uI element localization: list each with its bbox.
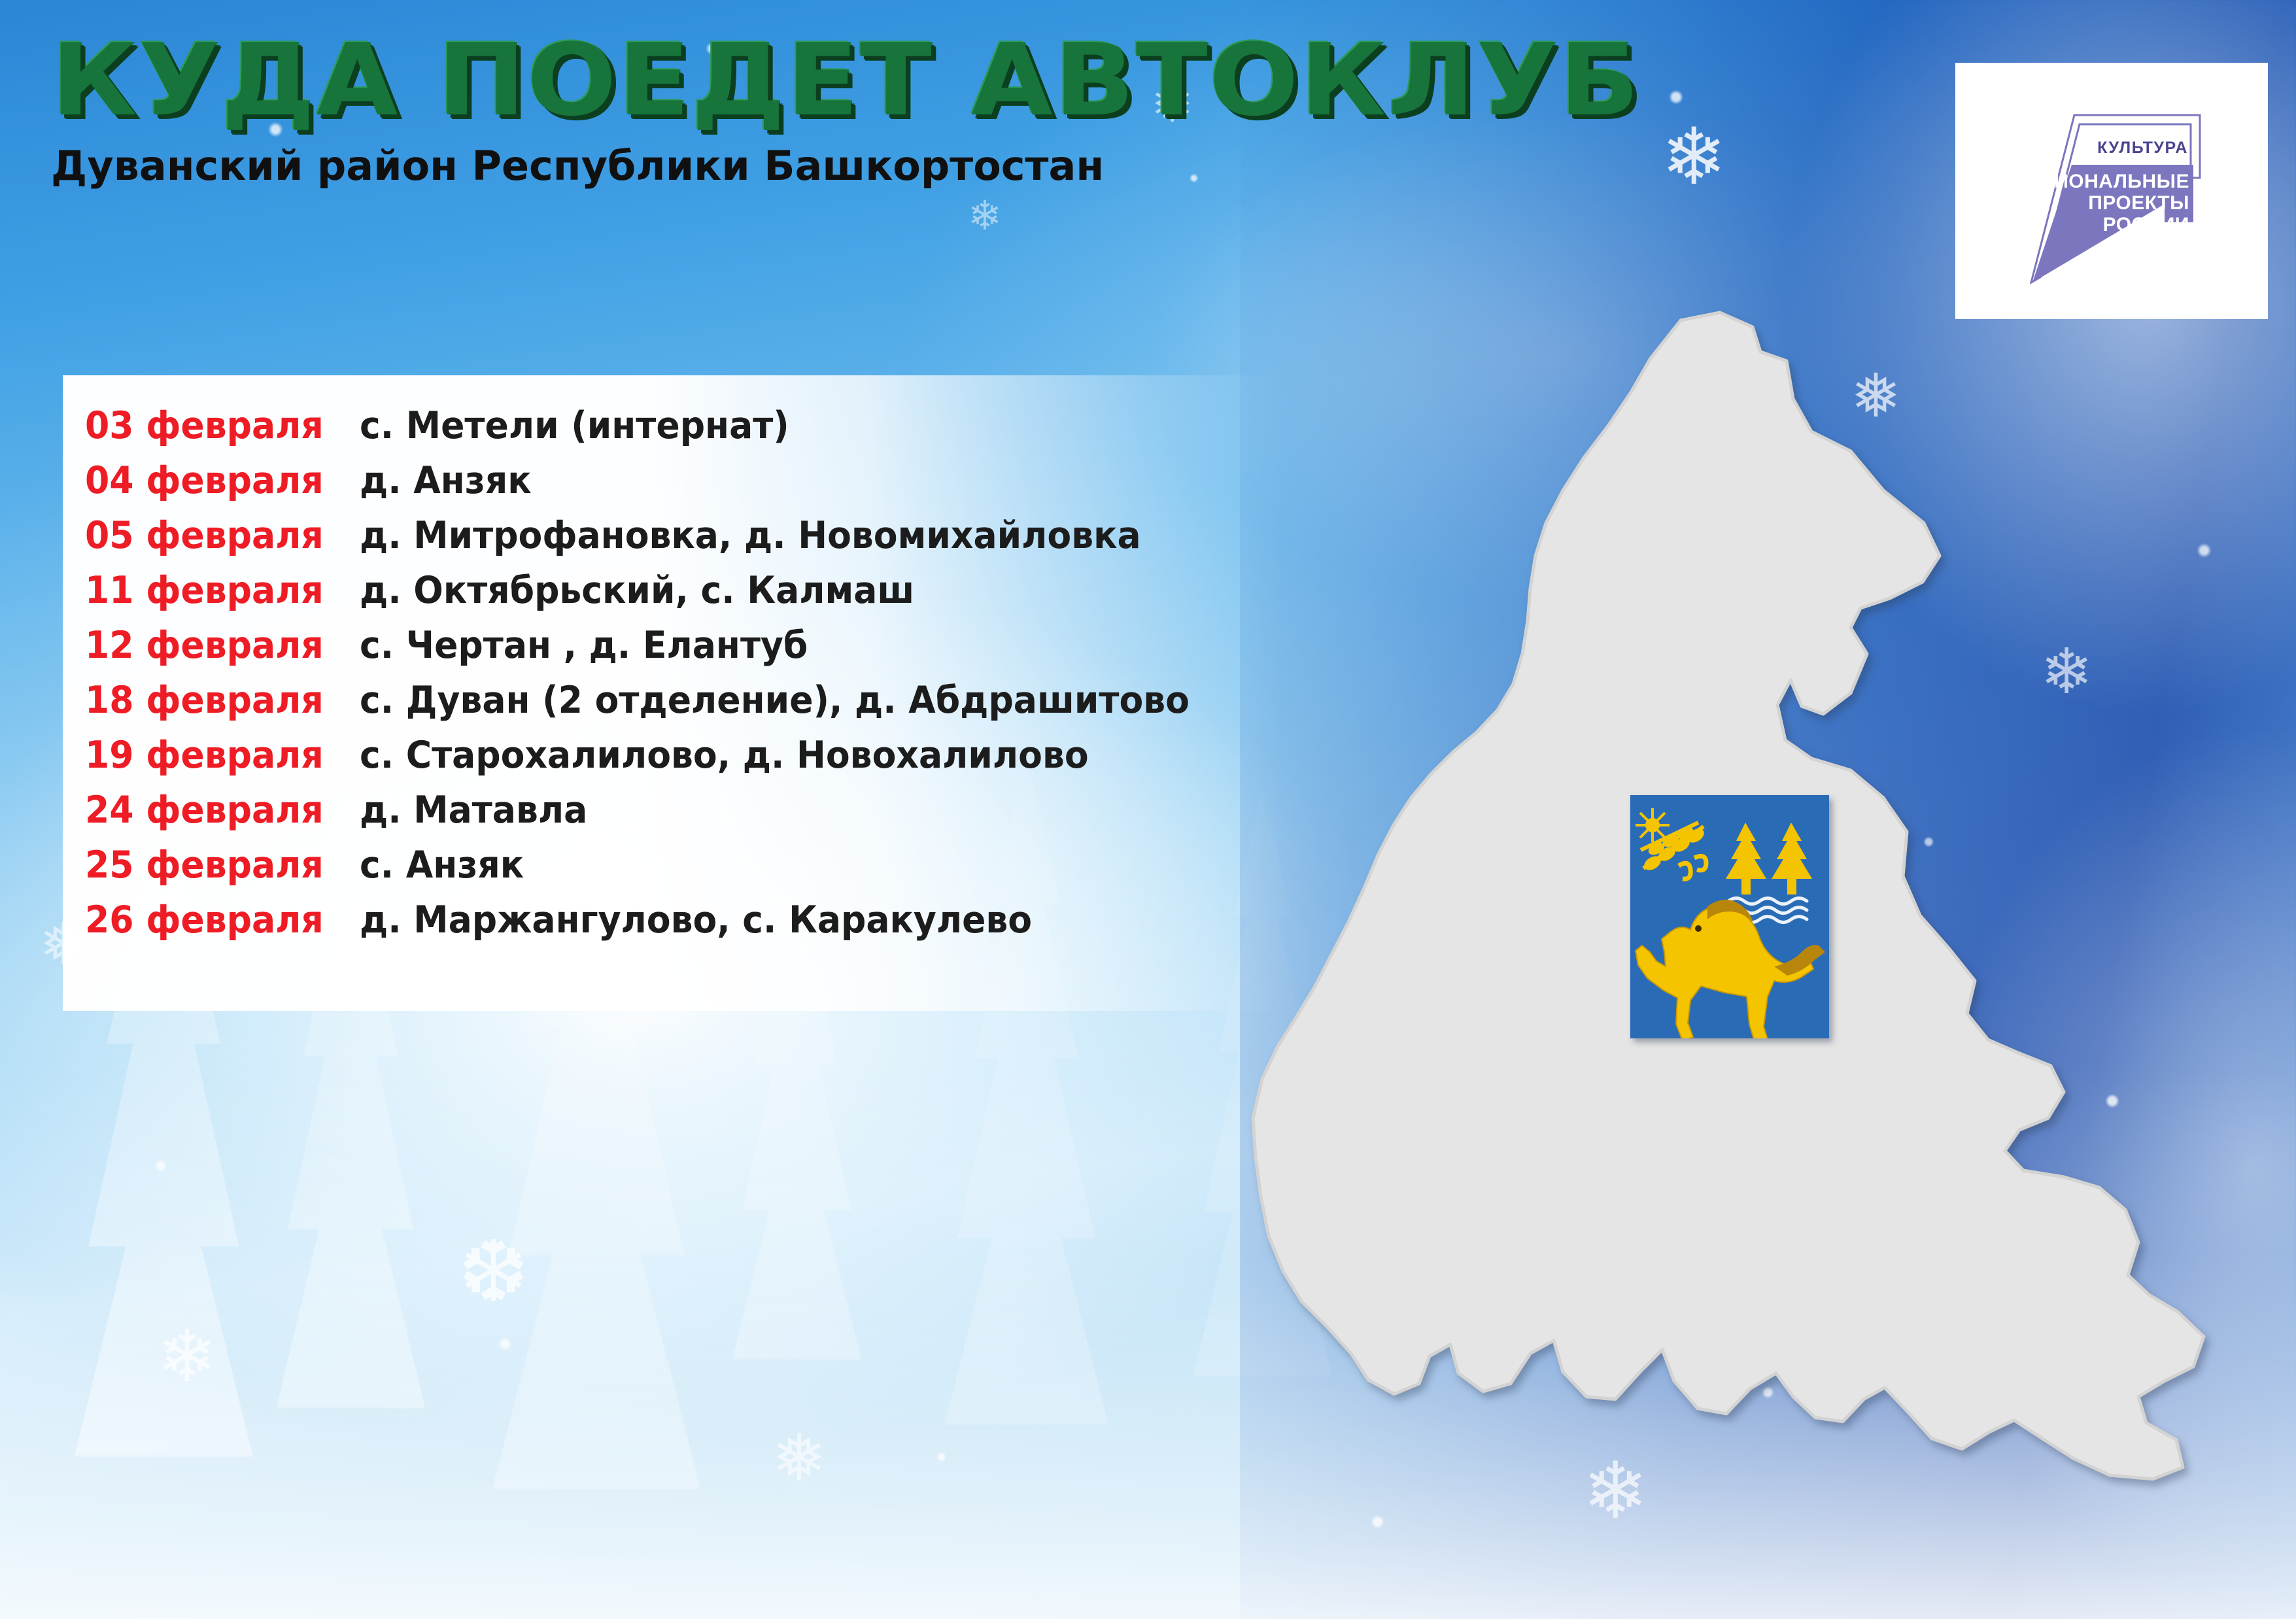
logo-line1-label: НАЦИОНАЛЬНЫЕ [2011,171,2190,192]
schedule-date: 04 февраля [85,459,343,502]
schedule-place: с. Старохалилово, д. Новохалилово [360,734,1089,777]
snowflake-icon: ❆ [458,1229,529,1314]
schedule-row: 03 февраля с. Метели (интернат) [85,404,1286,459]
schedule-date: 19 февраля [85,734,343,777]
star-icon [1636,808,1670,842]
schedule-row: 25 февраля с. Анзяк [85,844,1286,898]
schedule-row: 24 февраля д. Матавла [85,789,1286,844]
schedule-place: д. Маржангулово, с. Каракулево [360,898,1032,942]
schedule-row: 26 февраля д. Маржангулово, с. Каракулев… [85,898,1286,953]
schedule-date: 05 февраля [85,514,343,557]
snowflake-icon: ❄ [157,1321,217,1393]
schedule-row: 05 февраля д. Митрофановка, д. Новомихай… [85,514,1286,569]
schedule-place: д. Матавла [360,789,587,832]
schedule-place: с. Чертан , д. Елантуб [360,624,808,667]
page-subtitle: Дуванский район Республики Башкортостан [51,142,1551,190]
schedule-date: 11 февраля [85,569,343,612]
schedule-panel: 03 февраля с. Метели (интернат) 04 февра… [63,375,1286,1011]
schedule-place: д. Октябрьский, с. Калмаш [360,569,914,612]
schedule-date: 03 февраля [85,404,343,447]
schedule-date: 18 февраля [85,679,343,722]
schedule-place: д. Митрофановка, д. Новомихайловка [360,514,1141,557]
logo-kultura-label: КУЛЬТУРА [2097,139,2188,157]
schedule-date: 12 февраля [85,624,343,667]
snowflake-icon: ❅ [772,1425,827,1491]
schedule-row: 18 февраля с. Дуван (2 отделение), д. Аб… [85,679,1286,734]
snowflake-icon: ❄ [968,196,1002,237]
schedule-place: с. Дуван (2 отделение), д. Абдрашитово [360,679,1190,722]
schedule-row: 11 февраля д. Октябрьский, с. Калмаш [85,569,1286,624]
coat-of-arms [1630,795,1829,1038]
schedule-date: 25 февраля [85,844,343,887]
poster-header: КУДА ПОЕДЕТ АВТОКЛУБ Дуванский район Рес… [51,27,1551,190]
schedule-row: 19 февраля с. Старохалилово, д. Новохали… [85,734,1286,789]
page-title: КУДА ПОЕДЕТ АВТОКЛУБ [51,27,1641,133]
schedule-place: д. Анзяк [360,459,532,502]
schedule-place: с. Метели (интернат) [360,404,789,447]
schedule-date: 24 февраля [85,789,343,832]
schedule-place: с. Анзяк [360,844,524,887]
logo-line2-label: ПРОЕКТЫ [2088,192,2189,214]
logo-line3-label: РОССИИ [2103,214,2189,235]
schedule-row: 04 февраля д. Анзяк [85,459,1286,514]
schedule-row: 12 февраля с. Чертан , д. Елантуб [85,624,1286,679]
national-projects-logo: КУЛЬТУРА НАЦИОНАЛЬНЫЕ ПРОЕКТЫ РОССИИ [1955,63,2268,319]
snowflake-icon: ❄ [1661,118,1727,196]
schedule-date: 26 февраля [85,898,343,942]
